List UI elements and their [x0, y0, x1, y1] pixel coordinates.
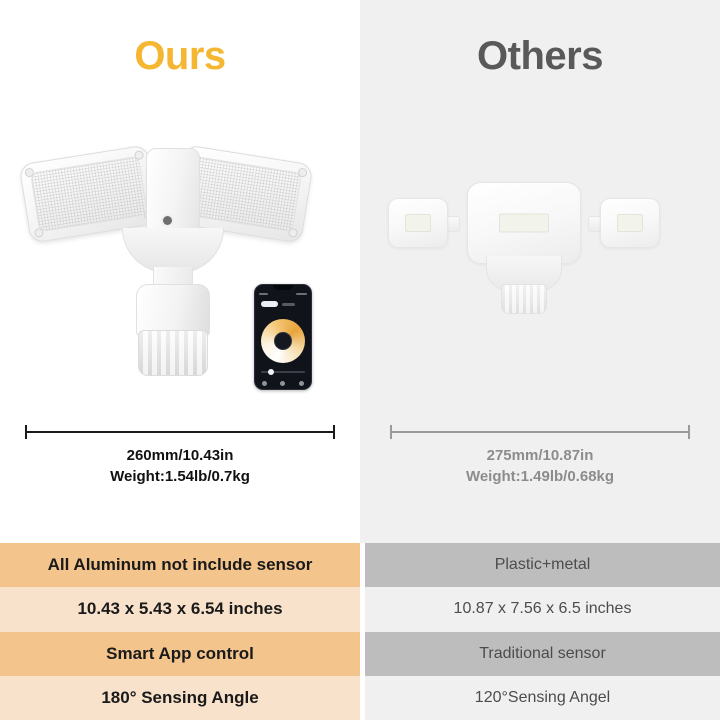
- dimension-block-ours: 260mm/10.43in Weight:1.54lb/0.7kg: [0, 425, 360, 487]
- phone-notch: [273, 285, 293, 290]
- screw-icon: [134, 150, 144, 160]
- table-row: All Aluminum not include sensor Plastic+…: [0, 543, 720, 587]
- screw-icon: [297, 167, 307, 177]
- light-sensor-icon: [163, 216, 172, 225]
- led-panel-right-others: [600, 198, 660, 248]
- led-panel-texture: [184, 156, 302, 232]
- dimension-block-others: 275mm/10.87in Weight:1.49lb/0.68kg: [360, 425, 720, 487]
- brightness-slider-knob[interactable]: [268, 369, 274, 375]
- spec-cell-others: 10.87 x 7.56 x 6.5 inches: [360, 587, 720, 631]
- cob-led-chip: [405, 214, 431, 232]
- phone-tab-white-light[interactable]: [261, 301, 278, 307]
- motion-sensor-others: [501, 284, 547, 314]
- pane-title-others: Others: [360, 34, 720, 79]
- spec-cell-others: Plastic+metal: [360, 543, 720, 587]
- motion-sensor-body-ours: [136, 284, 210, 336]
- dimension-line: [25, 431, 335, 433]
- screw-icon: [288, 228, 298, 238]
- phone-bottom-tab-bar[interactable]: [255, 381, 311, 386]
- spec-comparison-table: All Aluminum not include sensor Plastic+…: [0, 543, 720, 720]
- wheel-center-knob[interactable]: [274, 332, 292, 350]
- status-time: [259, 293, 268, 295]
- smart-app-phone-preview: [254, 284, 312, 390]
- dimension-label-others: 275mm/10.87in: [360, 445, 720, 466]
- product-image-others: [384, 172, 664, 312]
- dimension-bar-ours: [25, 425, 335, 439]
- product-image-ours: [18, 140, 318, 390]
- screw-icon: [34, 228, 44, 238]
- dimension-cap-right: [688, 425, 690, 439]
- spec-cell-ours: Smart App control: [0, 632, 360, 676]
- weight-label-ours: Weight:1.54lb/0.7kg: [0, 466, 360, 487]
- phone-tab-icon[interactable]: [299, 381, 304, 386]
- dimension-label-ours: 260mm/10.43in: [0, 445, 360, 466]
- spec-cell-ours: All Aluminum not include sensor: [0, 543, 360, 587]
- phone-status-bar: [259, 292, 307, 296]
- comparison-area: Ours: [0, 0, 720, 543]
- dimension-cap-right: [333, 425, 335, 439]
- spec-cell-ours: 180° Sensing Angle: [0, 676, 360, 720]
- led-panel-texture: [30, 156, 148, 232]
- led-panel-left-others: [388, 198, 448, 248]
- spec-cell-ours: 10.43 x 5.43 x 6.54 inches: [0, 587, 360, 631]
- dimension-bar-others: [390, 425, 690, 439]
- phone-tab-color[interactable]: [282, 303, 295, 306]
- table-row: 180° Sensing Angle 120°Sensing Angel: [0, 676, 720, 720]
- phone-tab-icon[interactable]: [262, 381, 267, 386]
- pane-title-ours: Ours: [0, 34, 360, 79]
- pane-ours: Ours: [0, 0, 360, 543]
- phone-mode-tabs[interactable]: [261, 301, 295, 307]
- housing-body-ours: [146, 148, 200, 240]
- status-icons: [296, 293, 307, 295]
- color-temperature-wheel[interactable]: [261, 319, 305, 363]
- pane-others: Others 275mm/10.87in Weight:1.4: [360, 0, 720, 543]
- dimension-line: [390, 431, 690, 433]
- weight-label-others: Weight:1.49lb/0.68kg: [360, 466, 720, 487]
- phone-tab-icon[interactable]: [280, 381, 285, 386]
- led-panel-middle-others: [467, 182, 581, 264]
- spec-cell-others: 120°Sensing Angel: [360, 676, 720, 720]
- cob-led-chip: [617, 214, 643, 232]
- cob-led-chip: [499, 214, 549, 233]
- motion-sensor-lens-ours: [138, 330, 208, 376]
- spec-cell-others: Traditional sensor: [360, 632, 720, 676]
- table-row: 10.43 x 5.43 x 6.54 inches 10.87 x 7.56 …: [0, 587, 720, 631]
- brightness-slider[interactable]: [261, 371, 305, 373]
- table-row: Smart App control Traditional sensor: [0, 632, 720, 676]
